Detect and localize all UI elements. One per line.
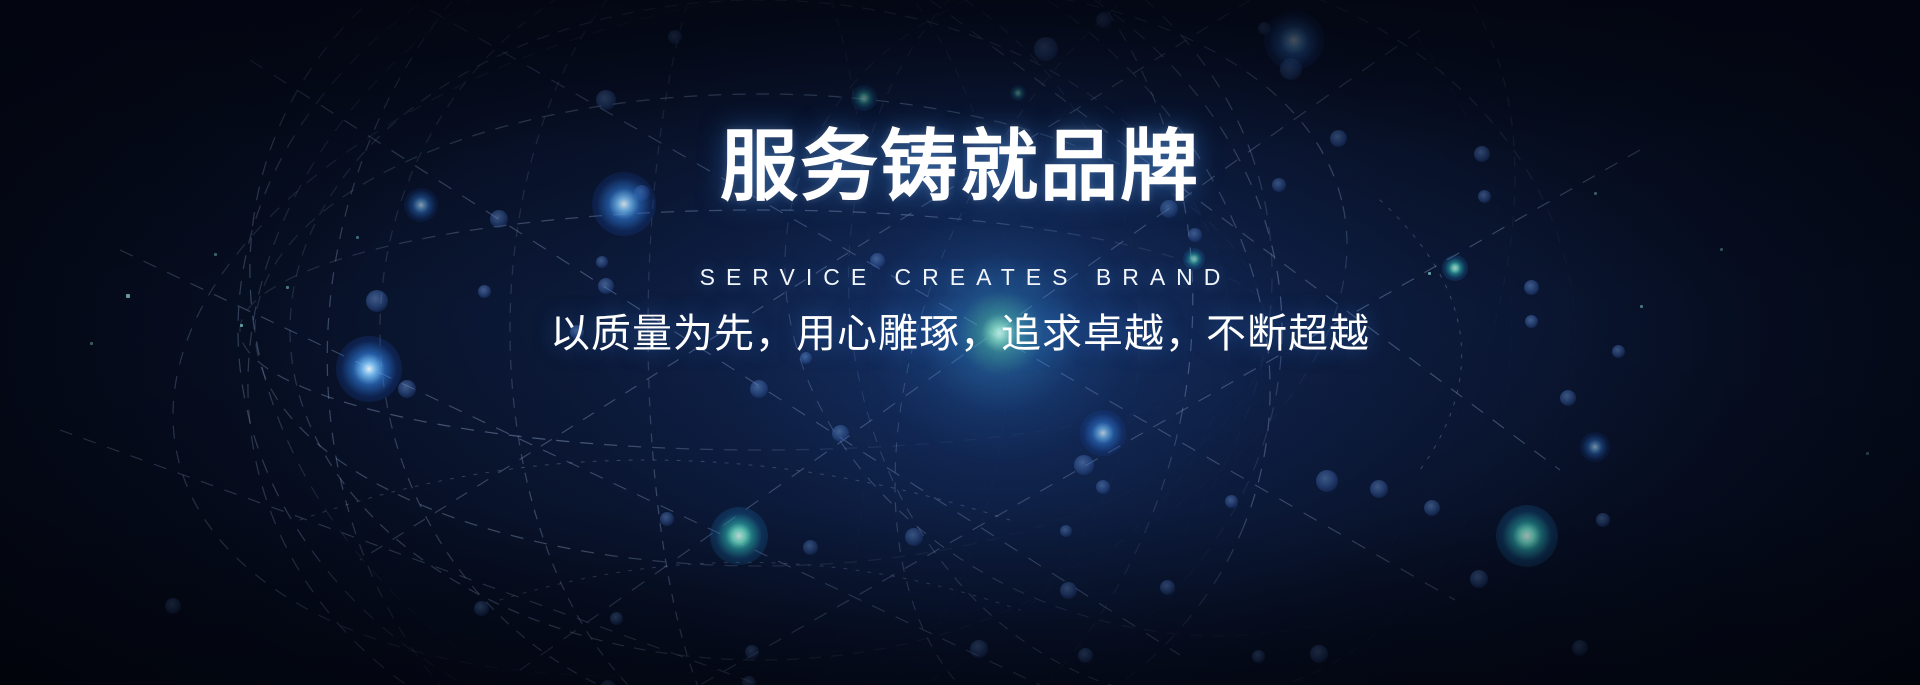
banner-subheadline: SERVICE CREATES BRAND [0,264,1920,291]
hero-banner: 服务铸就品牌 SERVICE CREATES BRAND 以质量为先，用心雕琢，… [0,0,1920,685]
banner-tagline: 以质量为先，用心雕琢，追求卓越，不断超越 [0,301,1920,359]
page-title: 服务铸就品牌 [0,127,1920,205]
